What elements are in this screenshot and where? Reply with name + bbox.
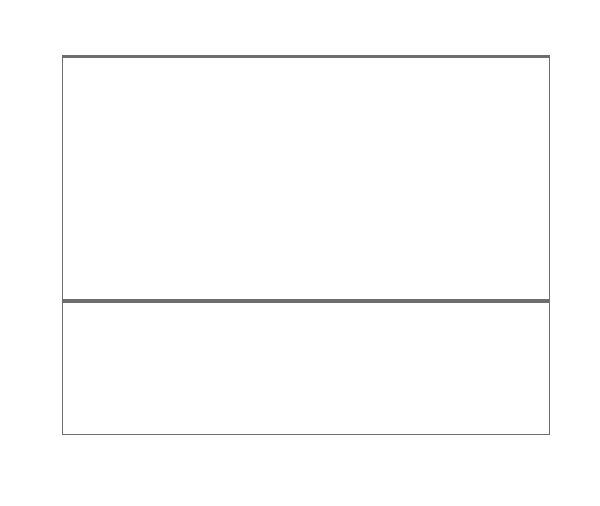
plot-panel-seasonal-effect — [62, 300, 550, 435]
zero-line-bottom — [63, 301, 549, 303]
plot-panel-cpi-growth — [62, 55, 550, 300]
chart-container — [0, 0, 600, 506]
line-series-group — [63, 56, 549, 299]
